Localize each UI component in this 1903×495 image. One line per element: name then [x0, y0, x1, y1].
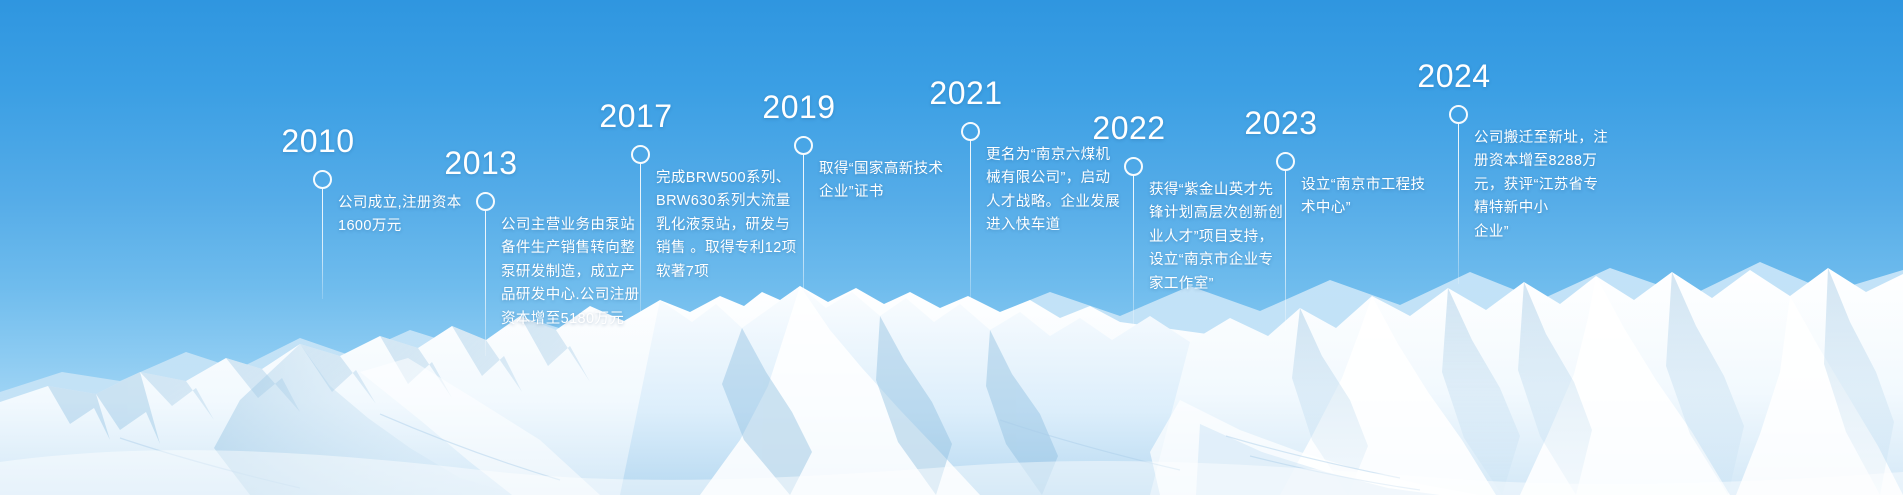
timeline-year-label: 2021: [929, 75, 1002, 112]
timeline-stem-line: [970, 141, 972, 301]
timeline-year-label: 2010: [281, 123, 354, 160]
timeline-stem-line: [1458, 124, 1460, 284]
timeline-stem-line: [803, 155, 805, 310]
timeline-stem-line: [1285, 171, 1287, 331]
timeline-marker-circle-icon[interactable]: [1276, 152, 1295, 171]
timeline-stem-line: [485, 211, 487, 356]
timeline-marker-circle-icon[interactable]: [313, 170, 332, 189]
timeline-marker-circle-icon[interactable]: [794, 136, 813, 155]
timeline-marker-circle-icon[interactable]: [961, 122, 980, 141]
timeline: 2010公司成立,注册资本 1600万元2013公司主营业务由泵站 备件生产销售…: [0, 0, 1903, 495]
timeline-stem-line: [322, 189, 324, 299]
timeline-year-label: 2019: [762, 89, 835, 126]
timeline-year-label: 2013: [444, 145, 517, 182]
timeline-stem-line: [640, 164, 642, 314]
timeline-year-label: 2017: [599, 98, 672, 135]
timeline-description: 公司搬迁至新址，注 册资本增至8288万 元，获评“江苏省专 精特新中小 企业”: [1474, 127, 1679, 244]
timeline-description: 设立“南京市工程技 术中心”: [1301, 174, 1501, 221]
timeline-infographic: 2010公司成立,注册资本 1600万元2013公司主营业务由泵站 备件生产销售…: [0, 0, 1903, 495]
timeline-year-label: 2024: [1417, 58, 1490, 95]
timeline-marker-circle-icon[interactable]: [1124, 157, 1143, 176]
timeline-stem-line: [1133, 176, 1135, 326]
timeline-year-label: 2022: [1092, 110, 1165, 147]
timeline-marker-circle-icon[interactable]: [631, 145, 650, 164]
timeline-marker-circle-icon[interactable]: [476, 192, 495, 211]
timeline-year-label: 2023: [1244, 105, 1317, 142]
timeline-marker-circle-icon[interactable]: [1449, 105, 1468, 124]
